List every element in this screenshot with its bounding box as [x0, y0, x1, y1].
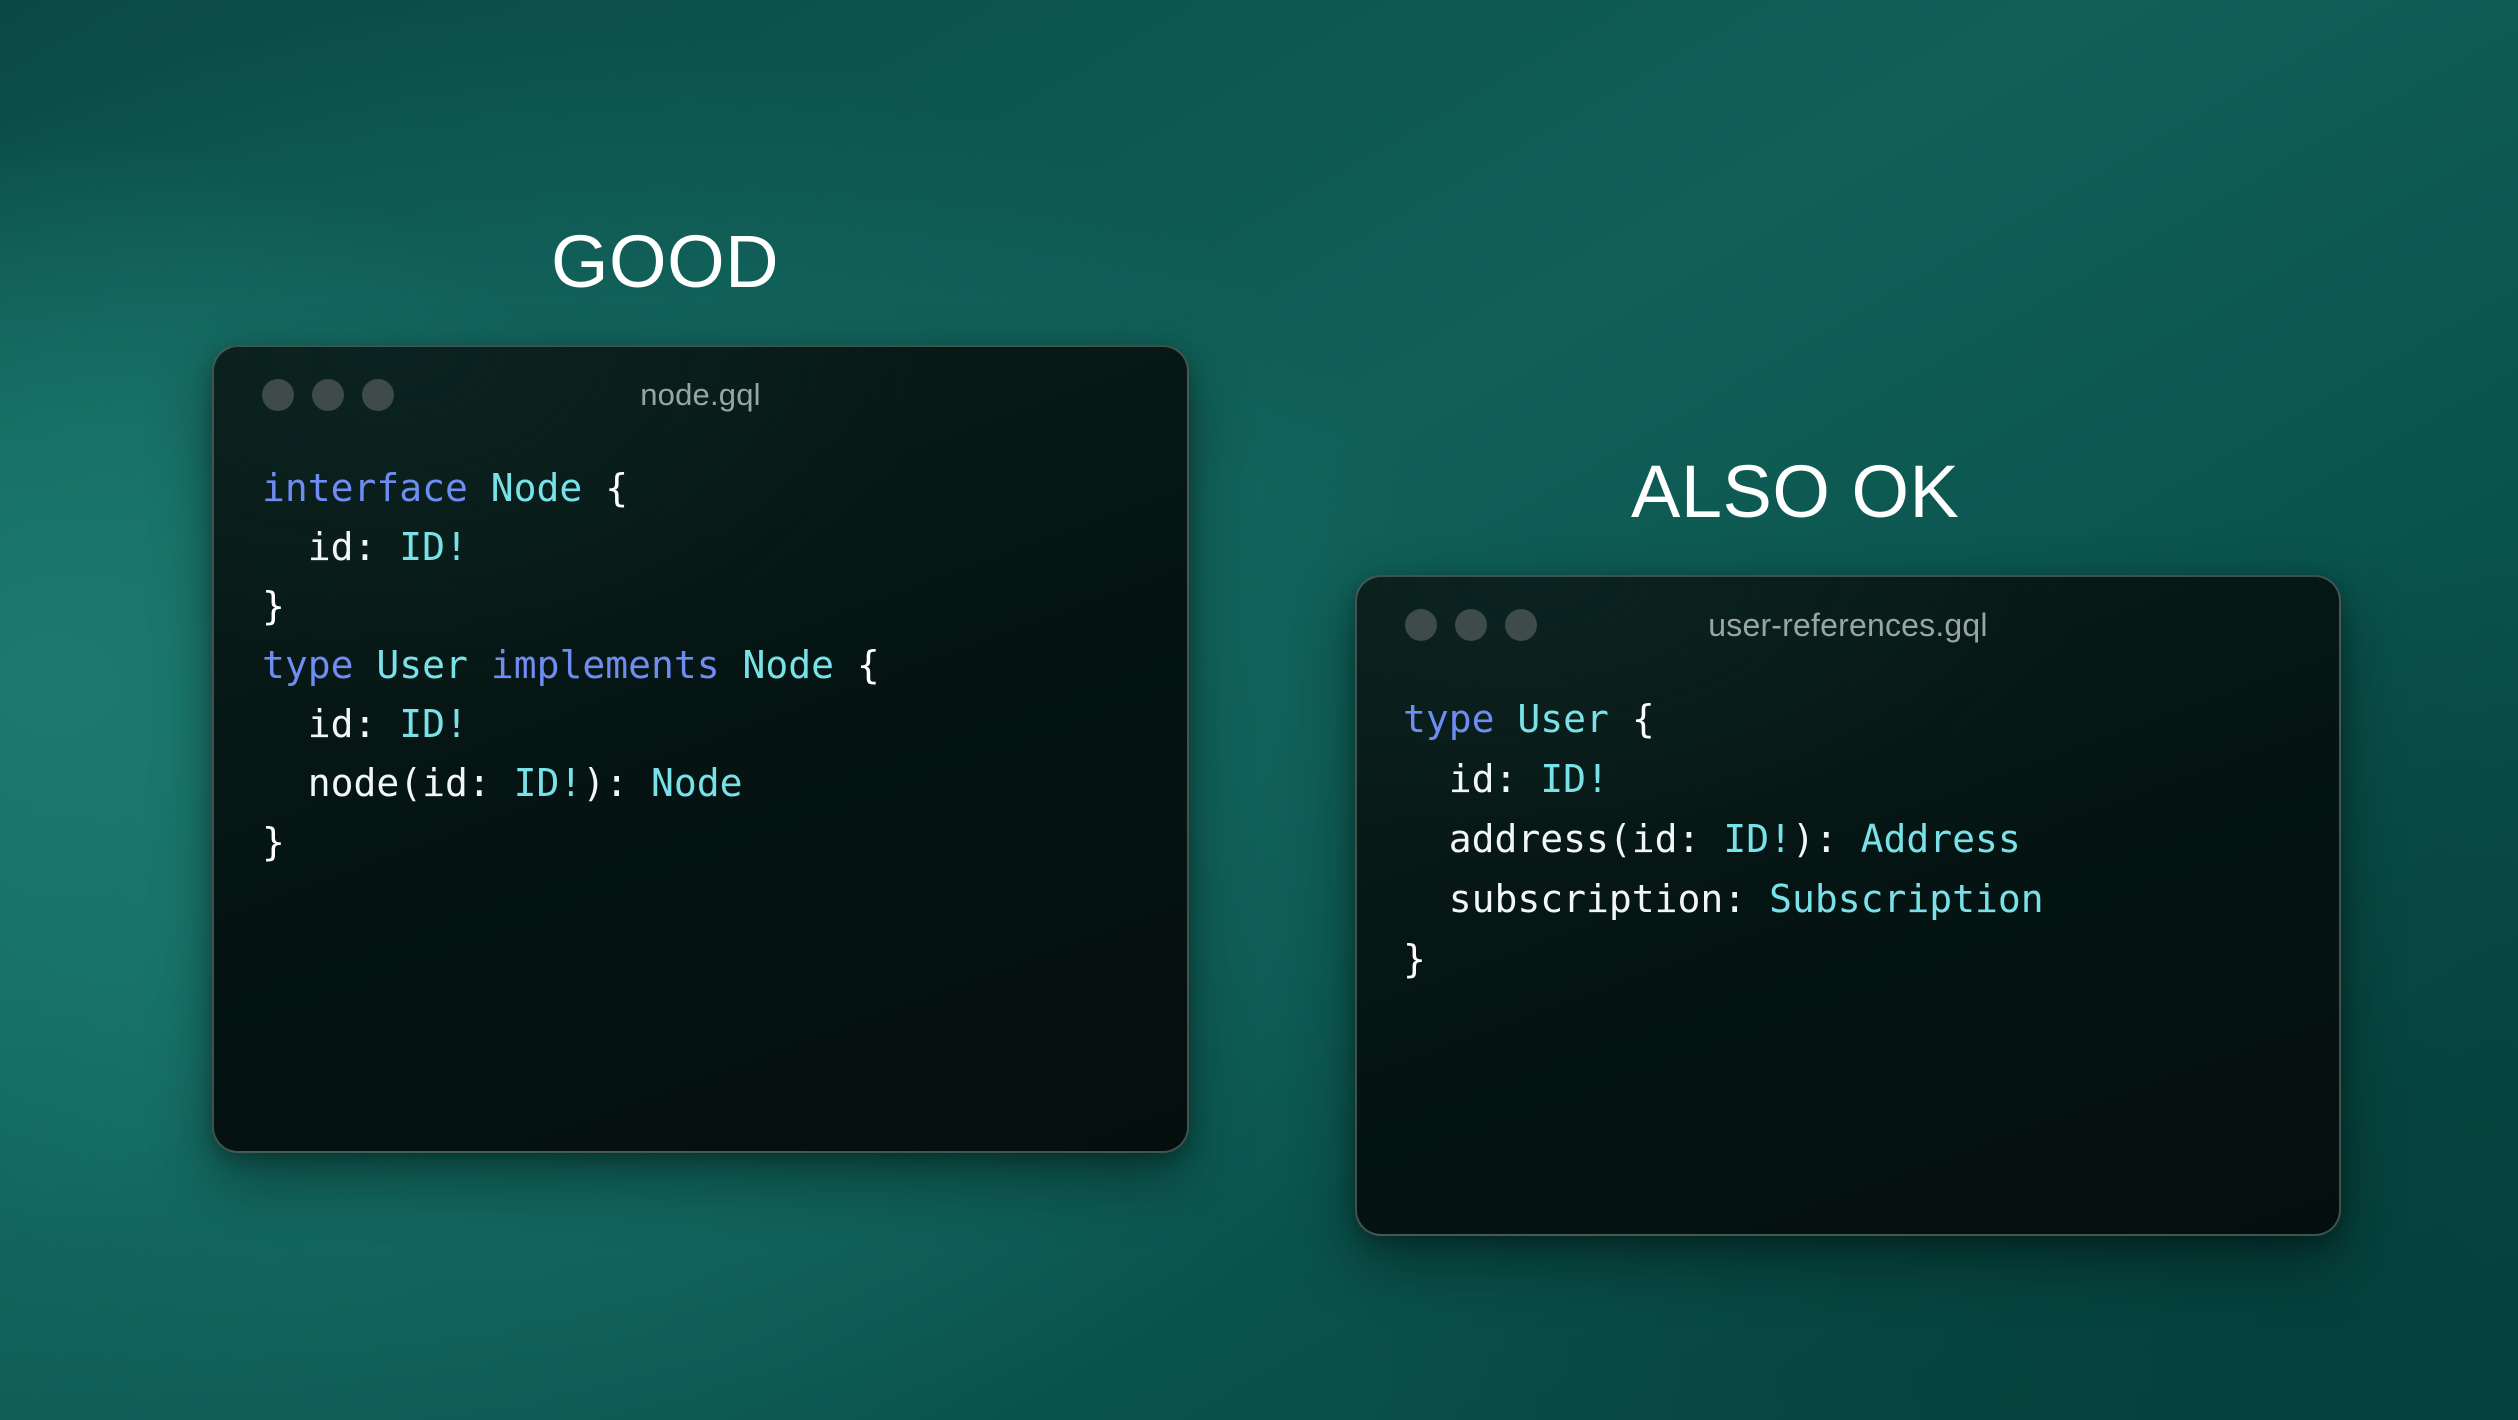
code-line: }: [262, 813, 1187, 872]
code-token-name: [468, 466, 491, 510]
window-controls: [262, 379, 394, 411]
code-token-type: ID!: [399, 525, 468, 569]
minimize-dot-icon[interactable]: [312, 379, 344, 411]
code-token-name: [834, 643, 857, 687]
code-token-punc: }: [262, 820, 285, 864]
code-token-name: ):: [1792, 817, 1861, 861]
code-token-name: id: [1403, 757, 1495, 801]
code-token-kw: interface: [262, 466, 468, 510]
code-token-name: :: [354, 525, 400, 569]
code-token-type: Node: [742, 643, 834, 687]
code-token-name: :: [354, 702, 400, 746]
code-token-type: Node: [491, 466, 583, 510]
code-token-name: [354, 643, 377, 687]
code-token-punc: }: [1403, 937, 1426, 981]
code-line: id: ID!: [1403, 749, 2339, 809]
code-token-punc: {: [857, 643, 880, 687]
code-token-type: User: [376, 643, 468, 687]
close-dot-icon[interactable]: [1405, 609, 1437, 641]
code-token-punc: }: [262, 584, 285, 628]
code-token-name: :: [1495, 757, 1541, 801]
code-token-name: address(id: [1403, 817, 1678, 861]
code-token-punc: {: [1632, 697, 1655, 741]
code-line: id: ID!: [262, 695, 1187, 754]
window-titlebar: user-references.gql: [1357, 577, 2339, 673]
code-token-name: ):: [582, 761, 651, 805]
code-line: node(id: ID!): Node: [262, 754, 1187, 813]
code-token-name: [720, 643, 743, 687]
code-token-type: Subscription: [1769, 877, 2044, 921]
code-token-kw: type: [262, 643, 354, 687]
maximize-dot-icon[interactable]: [1505, 609, 1537, 641]
panel-heading-good: GOOD: [551, 225, 779, 299]
minimize-dot-icon[interactable]: [1455, 609, 1487, 641]
code-token-type: User: [1517, 697, 1609, 741]
code-window-also-ok: user-references.gql type User { id: ID! …: [1355, 575, 2341, 1236]
code-token-name: :: [1678, 817, 1724, 861]
code-token-type: ID!: [399, 702, 468, 746]
code-line: }: [1403, 929, 2339, 989]
diagram-canvas: GOOD node.gql interface Node { id: ID!}t…: [0, 0, 2518, 1420]
code-token-type: Node: [651, 761, 743, 805]
code-token-type: Address: [1861, 817, 2021, 861]
code-block-also-ok: type User { id: ID! address(id: ID!): Ad…: [1357, 673, 2339, 989]
maximize-dot-icon[interactable]: [362, 379, 394, 411]
code-line: interface Node {: [262, 459, 1187, 518]
panel-heading-also-ok: ALSO OK: [1631, 455, 1959, 529]
window-titlebar: node.gql: [214, 347, 1187, 443]
window-controls: [1405, 609, 1537, 641]
code-token-type: ID!: [514, 761, 583, 805]
code-line: subscription: Subscription: [1403, 869, 2339, 929]
close-dot-icon[interactable]: [262, 379, 294, 411]
code-token-type: ID!: [1540, 757, 1609, 801]
code-token-name: [1495, 697, 1518, 741]
code-line: }: [262, 577, 1187, 636]
code-token-punc: {: [605, 466, 628, 510]
code-line: id: ID!: [262, 518, 1187, 577]
code-token-name: :: [1723, 877, 1769, 921]
code-token-kw: type: [1403, 697, 1495, 741]
code-token-name: [468, 643, 491, 687]
code-window-good: node.gql interface Node { id: ID!}type U…: [212, 345, 1189, 1153]
code-line: type User {: [1403, 689, 2339, 749]
code-line: address(id: ID!): Address: [1403, 809, 2339, 869]
code-token-type: ID!: [1723, 817, 1792, 861]
code-token-name: node(id: [262, 761, 468, 805]
code-token-name: subscription: [1403, 877, 1723, 921]
code-token-name: id: [262, 525, 354, 569]
code-token-name: id: [262, 702, 354, 746]
code-token-name: :: [468, 761, 514, 805]
code-token-name: [1609, 697, 1632, 741]
code-line: type User implements Node {: [262, 636, 1187, 695]
code-token-name: [582, 466, 605, 510]
code-block-good: interface Node { id: ID!}type User imple…: [214, 443, 1187, 872]
code-token-kw: implements: [491, 643, 720, 687]
